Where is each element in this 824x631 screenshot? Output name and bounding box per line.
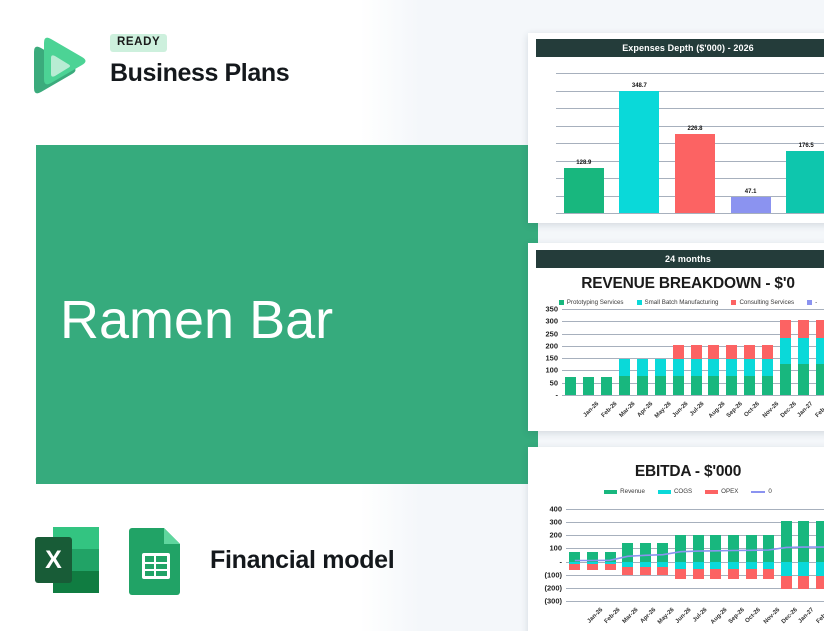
- legend-label: Revenue: [620, 488, 645, 495]
- bar-segment: [780, 338, 791, 364]
- bar: [619, 91, 659, 213]
- bar-value-label: 348.7: [632, 83, 647, 89]
- legend-label: 0: [768, 488, 771, 495]
- x-axis-revenue: Jan-26Feb-26Mar-26Apr-26May-26Jun-26Jul-…: [536, 397, 824, 431]
- bar-segment: [673, 359, 684, 376]
- y-axis-tick: 350: [536, 305, 558, 314]
- x-axis-tick: Aug-26: [710, 607, 729, 626]
- y-axis-tick: 150: [536, 354, 558, 363]
- chart-header-24-months: 24 months: [536, 250, 824, 268]
- x-axis-tick: Jan-27: [797, 401, 815, 419]
- bar-segment: [744, 345, 755, 360]
- bar-segment: [798, 338, 809, 364]
- bar-segment: [655, 376, 666, 395]
- legend-swatch: [604, 490, 617, 494]
- y-axis-tick: 250: [536, 329, 558, 338]
- gridline: [562, 309, 824, 310]
- x-axis-tick: Feb-27: [815, 401, 824, 419]
- bar-segment: [565, 377, 576, 395]
- bar-segment: [798, 364, 809, 395]
- legend-swatch: [705, 490, 718, 494]
- x-axis-tick: Mar-26: [618, 401, 636, 419]
- chart-heading-ebitda: EBITDA - $'000: [528, 463, 824, 481]
- bar-segment: [744, 376, 755, 395]
- x-axis-tick: Sep-26: [726, 401, 744, 419]
- x-axis-tick: Apr-26: [636, 401, 654, 419]
- legend-item: 0: [751, 488, 771, 495]
- legend-label: OPEX: [721, 488, 738, 495]
- brand-name: Business Plans: [110, 59, 289, 88]
- x-axis-tick: Aug-26: [708, 401, 727, 420]
- chart-heading-revenue: REVENUE BREAKDOWN - $'0: [528, 275, 824, 293]
- x-axis-tick: Nov-26: [762, 401, 780, 419]
- bar-segment: [673, 345, 684, 360]
- bar: [675, 134, 715, 213]
- bar-segment: [601, 377, 612, 395]
- bar-segment: [637, 376, 648, 395]
- line-series-zero: [536, 505, 824, 603]
- x-axis-tick: Dec-26: [779, 401, 797, 419]
- plot-area-expenses: 128.9348.7226.847.1176.5: [538, 65, 824, 215]
- bar-segment: [816, 364, 824, 395]
- x-axis-tick: Jun-26: [672, 401, 690, 419]
- bar-value-label: 47.1: [745, 189, 757, 195]
- slide-root: READY Business Plans Ramen Bar X: [0, 0, 824, 631]
- bar-segment: [708, 376, 719, 395]
- x-axis-tick: Jun-26: [675, 607, 693, 625]
- chart-card-revenue-breakdown[interactable]: 24 months REVENUE BREAKDOWN - $'0 Protot…: [528, 243, 824, 431]
- bar-value-label: 128.9: [576, 160, 591, 166]
- bar-segment: [816, 338, 824, 364]
- gridline: [556, 73, 824, 74]
- bar-segment: [798, 320, 809, 338]
- x-axis-tick: May-26: [654, 401, 673, 420]
- bar-segment: [691, 345, 702, 360]
- bar-segment: [762, 359, 773, 376]
- x-axis-tick: Apr-26: [639, 607, 657, 625]
- legend-label: COGS: [674, 488, 692, 495]
- x-axis-tick: Oct-26: [745, 607, 762, 624]
- gridline: [556, 108, 824, 109]
- hero-panel: Ramen Bar: [36, 145, 538, 484]
- legend-swatch: [751, 491, 765, 493]
- bar: [731, 197, 771, 213]
- bar-segment: [655, 359, 666, 376]
- legend-item: OPEX: [705, 488, 738, 495]
- bar-segment: [780, 364, 791, 395]
- x-axis-tick: Sep-26: [728, 607, 746, 625]
- bar-segment: [744, 359, 755, 376]
- bar-segment: [816, 320, 824, 338]
- bar-segment: [691, 376, 702, 395]
- plot-area-revenue: 35030025020015010050-: [536, 305, 824, 397]
- legend-swatch: [658, 490, 671, 494]
- gridline: [562, 395, 824, 396]
- x-axis-tick: Jan-26: [586, 607, 604, 625]
- footer-row: X Financial model: [33, 521, 394, 599]
- page-title: Ramen Bar: [60, 293, 333, 347]
- bar-value-label: 176.5: [799, 143, 814, 149]
- bar-segment: [619, 359, 630, 376]
- y-axis-tick: 50: [536, 378, 558, 387]
- ready-badge: READY: [110, 34, 167, 52]
- bar: [786, 151, 824, 213]
- x-axis-tick: Jan-27: [798, 607, 816, 625]
- brand-text-block: READY Business Plans: [110, 32, 289, 88]
- plot-area-ebitda: 400300200100-(100)(200)(300): [536, 505, 824, 603]
- footer-label: Financial model: [210, 546, 394, 575]
- x-axis-tick: Jul-26: [689, 401, 706, 418]
- chart-card-expenses-depth[interactable]: Expenses Depth ($'000) - 2026 128.9348.7…: [528, 33, 824, 223]
- x-axis-tick: Oct-26: [743, 401, 760, 418]
- bar-segment: [583, 377, 594, 395]
- gridline: [556, 213, 824, 214]
- bar-segment: [762, 345, 773, 360]
- bar-segment: [673, 376, 684, 395]
- chart-card-ebitda[interactable]: EBITDA - $'000 RevenueCOGSOPEX0 40030020…: [528, 447, 824, 631]
- legend-item: Revenue: [604, 488, 645, 495]
- y-axis-tick: 200: [536, 341, 558, 350]
- x-axis-tick: Feb-26: [604, 607, 622, 625]
- google-sheets-icon: [126, 525, 188, 595]
- x-axis-tick: Mar-26: [622, 607, 640, 625]
- bar-value-label: 226.8: [687, 126, 702, 132]
- bar: [564, 168, 604, 213]
- chart-header-expenses: Expenses Depth ($'000) - 2026: [536, 39, 824, 57]
- y-axis-tick: 300: [536, 317, 558, 326]
- bar-segment: [726, 376, 737, 395]
- legend-item: COGS: [658, 488, 692, 495]
- x-axis-tick: Jan-26: [583, 401, 601, 419]
- gridline: [556, 91, 824, 92]
- bar-segment: [708, 359, 719, 376]
- bar-segment: [780, 320, 791, 338]
- bar-segment: [637, 359, 648, 376]
- x-axis-tick: Feb-26: [600, 401, 618, 419]
- x-axis-tick: Dec-26: [780, 607, 798, 625]
- x-axis-tick: Jul-26: [692, 607, 709, 624]
- x-axis-ebitda: Jan-26Feb-26Mar-26Apr-26May-26Jun-26Jul-…: [536, 603, 824, 631]
- x-axis-tick: Nov-26: [763, 607, 781, 625]
- bar-segment: [762, 376, 773, 395]
- y-axis-tick: 100: [536, 366, 558, 375]
- bar-segment: [726, 359, 737, 376]
- play-triangle-logo-icon: [22, 30, 94, 100]
- microsoft-excel-icon: X: [33, 525, 101, 595]
- svg-text:X: X: [45, 546, 62, 574]
- bar-segment: [619, 376, 630, 395]
- x-axis-tick: May-26: [657, 607, 676, 626]
- bar-segment: [708, 345, 719, 360]
- chart-legend-ebitda: RevenueCOGSOPEX0: [528, 488, 824, 495]
- x-axis-tick: Feb-27: [816, 607, 824, 625]
- bar-segment: [691, 359, 702, 376]
- brand-logo: READY Business Plans: [22, 26, 322, 106]
- bar-segment: [726, 345, 737, 360]
